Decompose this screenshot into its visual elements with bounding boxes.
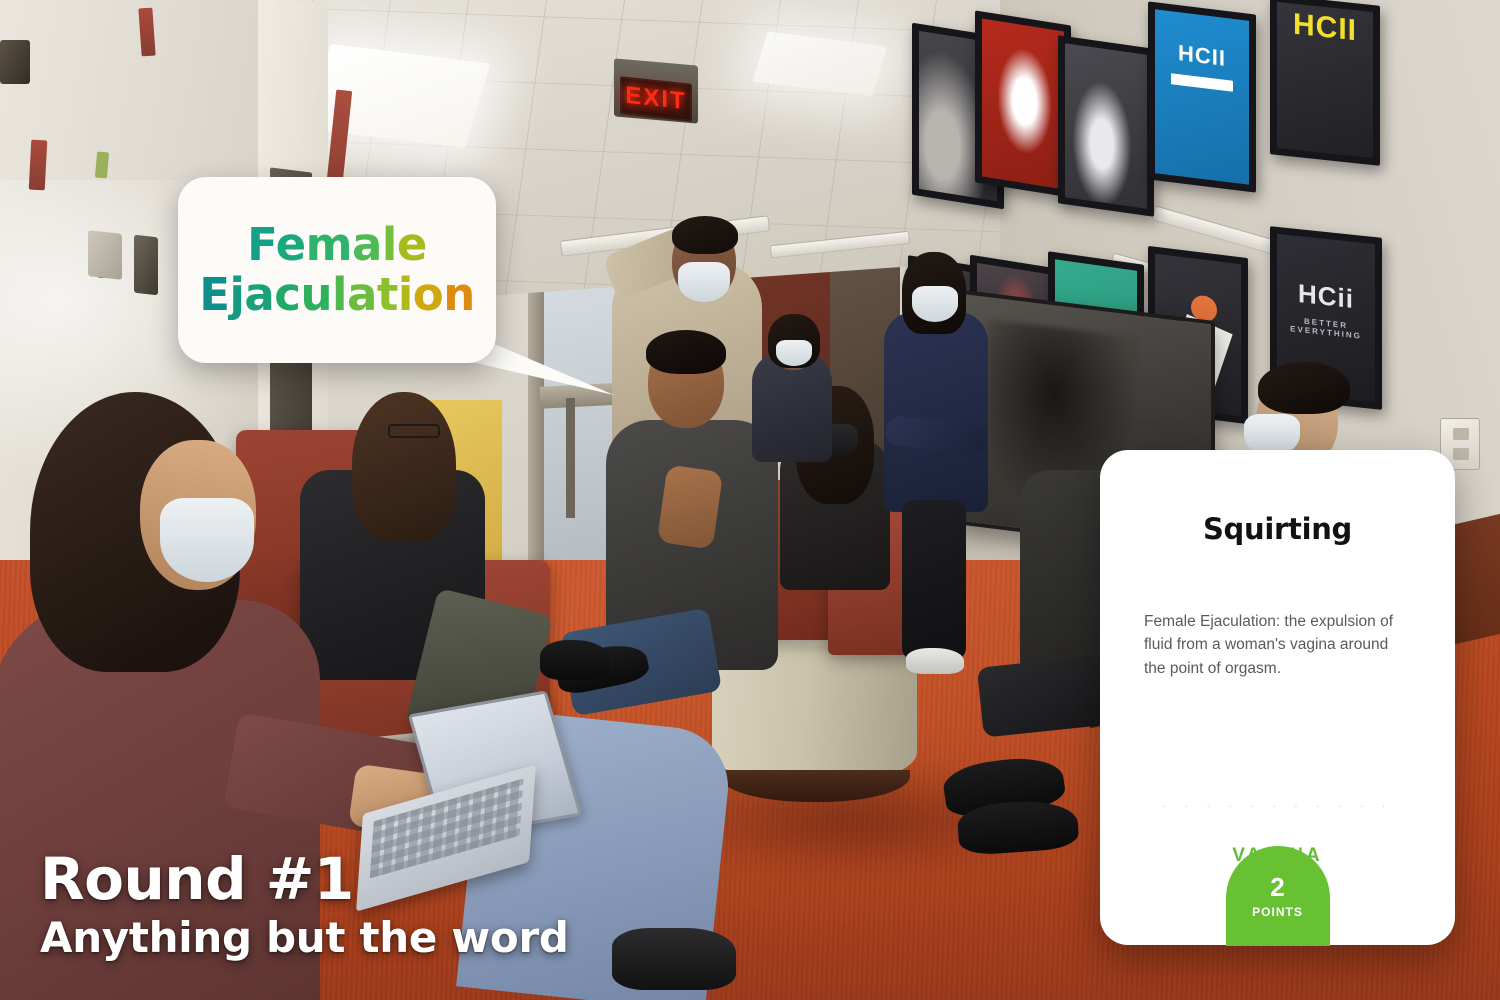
bubble-letter: a: [347, 268, 377, 321]
wall-fixture: [0, 40, 30, 84]
bubble-letter: E: [199, 268, 229, 321]
person-shoe: [906, 648, 964, 674]
wall-red-strip: [29, 140, 48, 191]
speech-bubble: Female Ejaculation: [178, 177, 496, 363]
points-label: POINTS: [1252, 905, 1303, 919]
bubble-letter: e: [397, 218, 427, 271]
face-mask: [678, 262, 730, 302]
bubble-letter: m: [306, 218, 352, 271]
bubble-letter: n: [443, 268, 475, 321]
person-sandal: [612, 928, 736, 990]
poster-art-detail: [1065, 43, 1147, 209]
definition-card[interactable]: Squirting Female Ejaculation: the expuls…: [1100, 450, 1455, 945]
exit-sign-text: EXIT: [625, 82, 686, 116]
bubble-letter: o: [413, 268, 443, 321]
person-shoe: [540, 640, 610, 680]
points-badge: 2 POINTS: [1226, 846, 1330, 946]
back-table-leg: [566, 398, 575, 518]
wall-fixture: [134, 235, 158, 296]
person-hair: [352, 392, 456, 542]
bubble-letter: t: [377, 268, 398, 321]
wall-poster: [975, 10, 1071, 197]
points-value: 2: [1270, 874, 1284, 900]
wall-poster-hcii-yellow: HCII: [1270, 0, 1380, 166]
card-definition: Female Ejaculation: the expulsion of flu…: [1144, 610, 1411, 680]
bubble-letter: F: [247, 218, 275, 271]
bubble-letter: l: [382, 218, 397, 271]
poster-art: [1155, 9, 1249, 185]
card-title: Squirting: [1144, 512, 1411, 546]
speech-bubble-line-1: Female: [247, 220, 427, 270]
dotted-separator: · · · · · · · · · · ·: [1100, 798, 1455, 813]
face-mask: [912, 286, 958, 322]
wall-poster-hcii-blue: HCII: [1148, 1, 1256, 192]
wall-fixture: [88, 230, 122, 280]
bubble-letter: a: [244, 268, 274, 321]
face-mask: [160, 498, 254, 582]
wall-green-marker: [95, 152, 109, 179]
person-torso: [884, 312, 988, 512]
person-hair: [646, 330, 726, 374]
person-leg: [902, 500, 966, 660]
poster-art-detail: [982, 19, 1064, 190]
bubble-letter: e: [276, 218, 306, 271]
person-hair: [1258, 362, 1350, 414]
round-subtitle: Anything but the word: [40, 914, 569, 962]
bubble-letter: a: [352, 218, 382, 271]
round-title: Round #1: [40, 850, 569, 908]
screenshot-stage: EXIT HCII HCI: [0, 0, 1500, 1000]
person-hair: [672, 216, 738, 254]
face-mask: [776, 340, 812, 366]
wall-poster: [1058, 35, 1154, 216]
person-hand: [657, 464, 723, 549]
bubble-letter: i: [398, 268, 413, 321]
bubble-letter: l: [332, 268, 347, 321]
eyeglasses: [388, 424, 440, 438]
bubble-letter: c: [274, 268, 300, 321]
round-overlay: Round #1 Anything but the word: [40, 850, 569, 962]
exit-sign: EXIT: [620, 76, 692, 122]
speech-bubble-line-2: Ejaculation: [199, 270, 475, 320]
bubble-letter: j: [229, 268, 244, 321]
bubble-letter: u: [300, 268, 332, 321]
ottoman-base: [720, 770, 910, 802]
